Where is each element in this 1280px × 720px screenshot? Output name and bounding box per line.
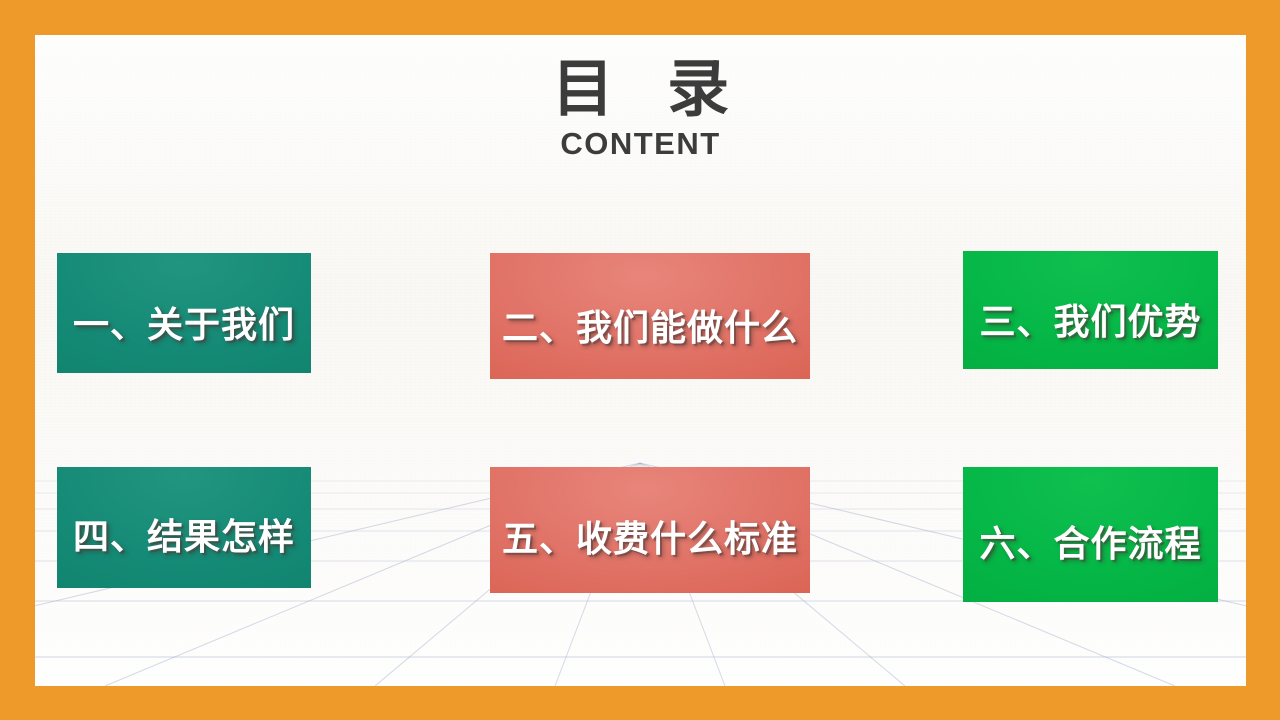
agenda-item-2-label: 二、我们能做什么	[502, 299, 798, 351]
presentation-slide: 目 录 CONTENT 一、关于我们 二、我们能做什么 三、我们优势 四、结果怎…	[0, 0, 1280, 720]
agenda-item-6-label: 六、合作流程	[979, 515, 1201, 567]
agenda-item-2[interactable]: 二、我们能做什么	[490, 253, 810, 379]
page-subtitle: CONTENT	[35, 126, 1246, 162]
agenda-item-5-label: 五、收费什么标准	[502, 510, 798, 562]
slide-header: 目 录 CONTENT	[35, 57, 1246, 162]
agenda-item-3-label: 三、我们优势	[979, 293, 1201, 345]
agenda-item-1-label: 一、关于我们	[73, 296, 295, 348]
slide-canvas: 目 录 CONTENT 一、关于我们 二、我们能做什么 三、我们优势 四、结果怎…	[35, 35, 1246, 686]
agenda-item-4[interactable]: 四、结果怎样	[57, 467, 311, 588]
agenda-item-5[interactable]: 五、收费什么标准	[490, 467, 810, 593]
page-title: 目 录	[35, 57, 1246, 122]
agenda-item-1[interactable]: 一、关于我们	[57, 253, 311, 373]
agenda-item-6[interactable]: 六、合作流程	[963, 467, 1218, 602]
agenda-item-3[interactable]: 三、我们优势	[963, 251, 1218, 369]
agenda-item-4-label: 四、结果怎样	[73, 508, 295, 560]
